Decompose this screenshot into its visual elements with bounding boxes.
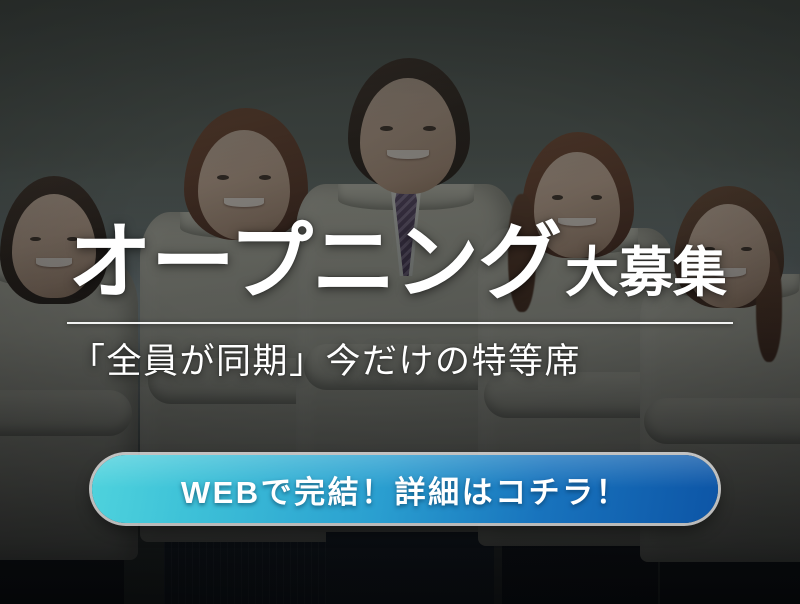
page-title: オープニング 大募集 bbox=[68, 222, 727, 306]
banner-content: オープニング 大募集 「全員が同期」今だけの特等席 WEBで完結！詳細はコチラ！ bbox=[0, 0, 800, 604]
cta-button[interactable]: WEBで完結！詳細はコチラ！ bbox=[92, 455, 718, 523]
headline-kanji: 大募集 bbox=[565, 246, 727, 300]
headline-katakana: オープニング bbox=[68, 222, 561, 306]
recruitment-banner: オープニング 大募集 「全員が同期」今だけの特等席 WEBで完結！詳細はコチラ！ bbox=[0, 0, 800, 604]
divider bbox=[67, 322, 733, 324]
cta-button-label: WEBで完結！詳細はコチラ！ bbox=[181, 467, 629, 512]
subtitle: 「全員が同期」今だけの特等席 bbox=[70, 343, 581, 382]
